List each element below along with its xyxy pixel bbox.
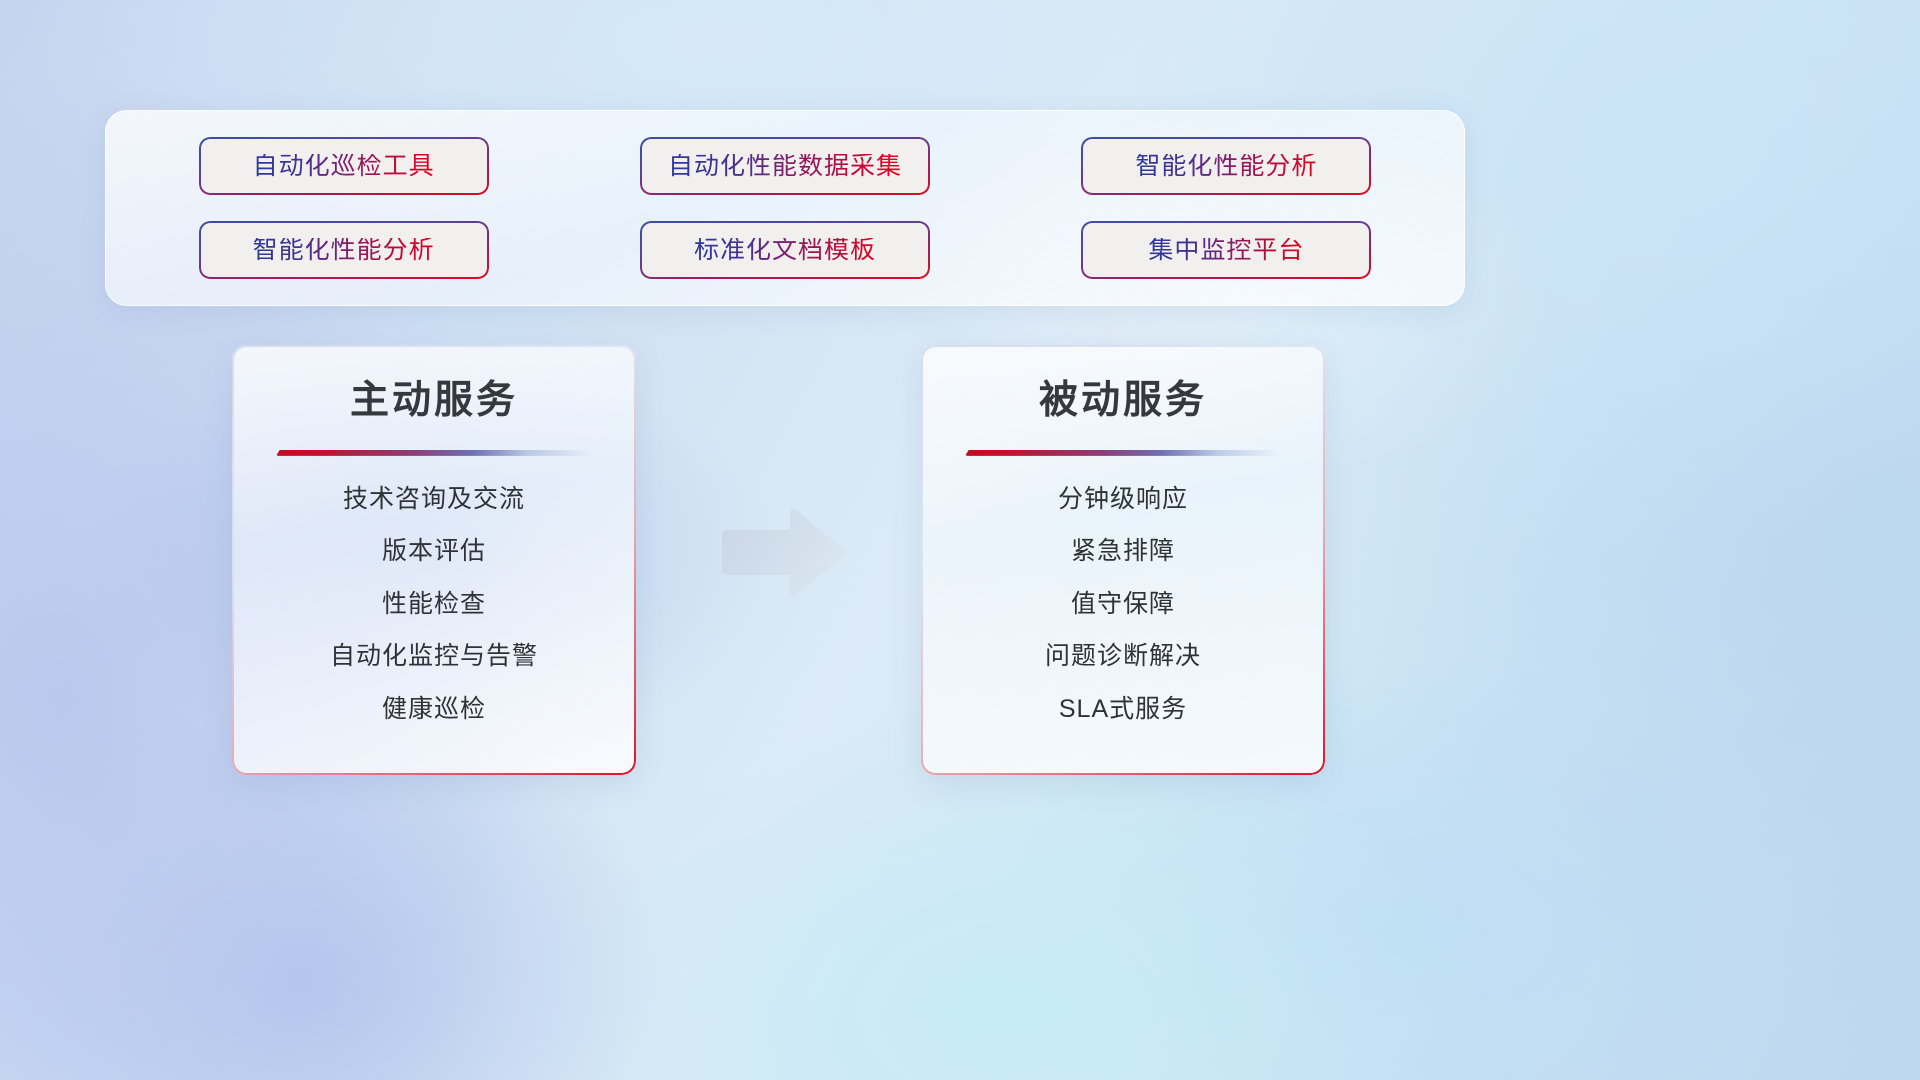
tool-pill-3[interactable]: 智能化性能分析: [1081, 137, 1371, 195]
card-item-list: 技术咨询及交流 版本评估 性能检查 自动化监控与告警 健康巡检: [254, 486, 614, 724]
list-item: 技术咨询及交流: [254, 486, 614, 514]
tool-pill-label: 智能化性能分析: [253, 238, 435, 263]
card-title: 被动服务: [943, 379, 1303, 424]
service-card-active: 主动服务 技术咨询及交流 版本评估 性能检查 自动化监控与告警 健康巡检: [232, 345, 636, 775]
tool-pill-label: 自动化性能数据采集: [668, 154, 902, 179]
tool-pill-label: 集中监控平台: [1148, 238, 1304, 263]
tool-pill-label: 标准化文档模板: [694, 238, 876, 263]
list-item: 健康巡检: [254, 696, 614, 724]
tool-pill-4[interactable]: 智能化性能分析: [199, 221, 489, 279]
card-divider: [965, 450, 1281, 456]
list-item: 紧急排障: [943, 538, 1303, 566]
list-item: SLA式服务: [943, 696, 1303, 724]
tool-pill-label: 智能化性能分析: [1135, 154, 1317, 179]
tools-panel: 自动化巡检工具 自动化性能数据采集 智能化性能分析 智能化性能分析 标准化文档模…: [105, 110, 1465, 306]
card-divider: [276, 450, 592, 456]
tool-pill-6[interactable]: 集中监控平台: [1081, 221, 1371, 279]
card-title: 主动服务: [254, 379, 614, 424]
list-item: 分钟级响应: [943, 486, 1303, 514]
list-item: 性能检查: [254, 591, 614, 619]
list-item: 版本评估: [254, 538, 614, 566]
tool-pill-label: 自动化巡检工具: [253, 154, 435, 179]
arrow-right-icon: [716, 505, 848, 600]
list-item: 问题诊断解决: [943, 643, 1303, 671]
list-item: 自动化监控与告警: [254, 643, 614, 671]
card-item-list: 分钟级响应 紧急排障 值守保障 问题诊断解决 SLA式服务: [943, 486, 1303, 724]
tool-pill-5[interactable]: 标准化文档模板: [640, 221, 930, 279]
tool-pill-2[interactable]: 自动化性能数据采集: [640, 137, 930, 195]
service-card-passive: 被动服务 分钟级响应 紧急排障 值守保障 问题诊断解决 SLA式服务: [921, 345, 1325, 775]
list-item: 值守保障: [943, 591, 1303, 619]
tool-pill-1[interactable]: 自动化巡检工具: [199, 137, 489, 195]
